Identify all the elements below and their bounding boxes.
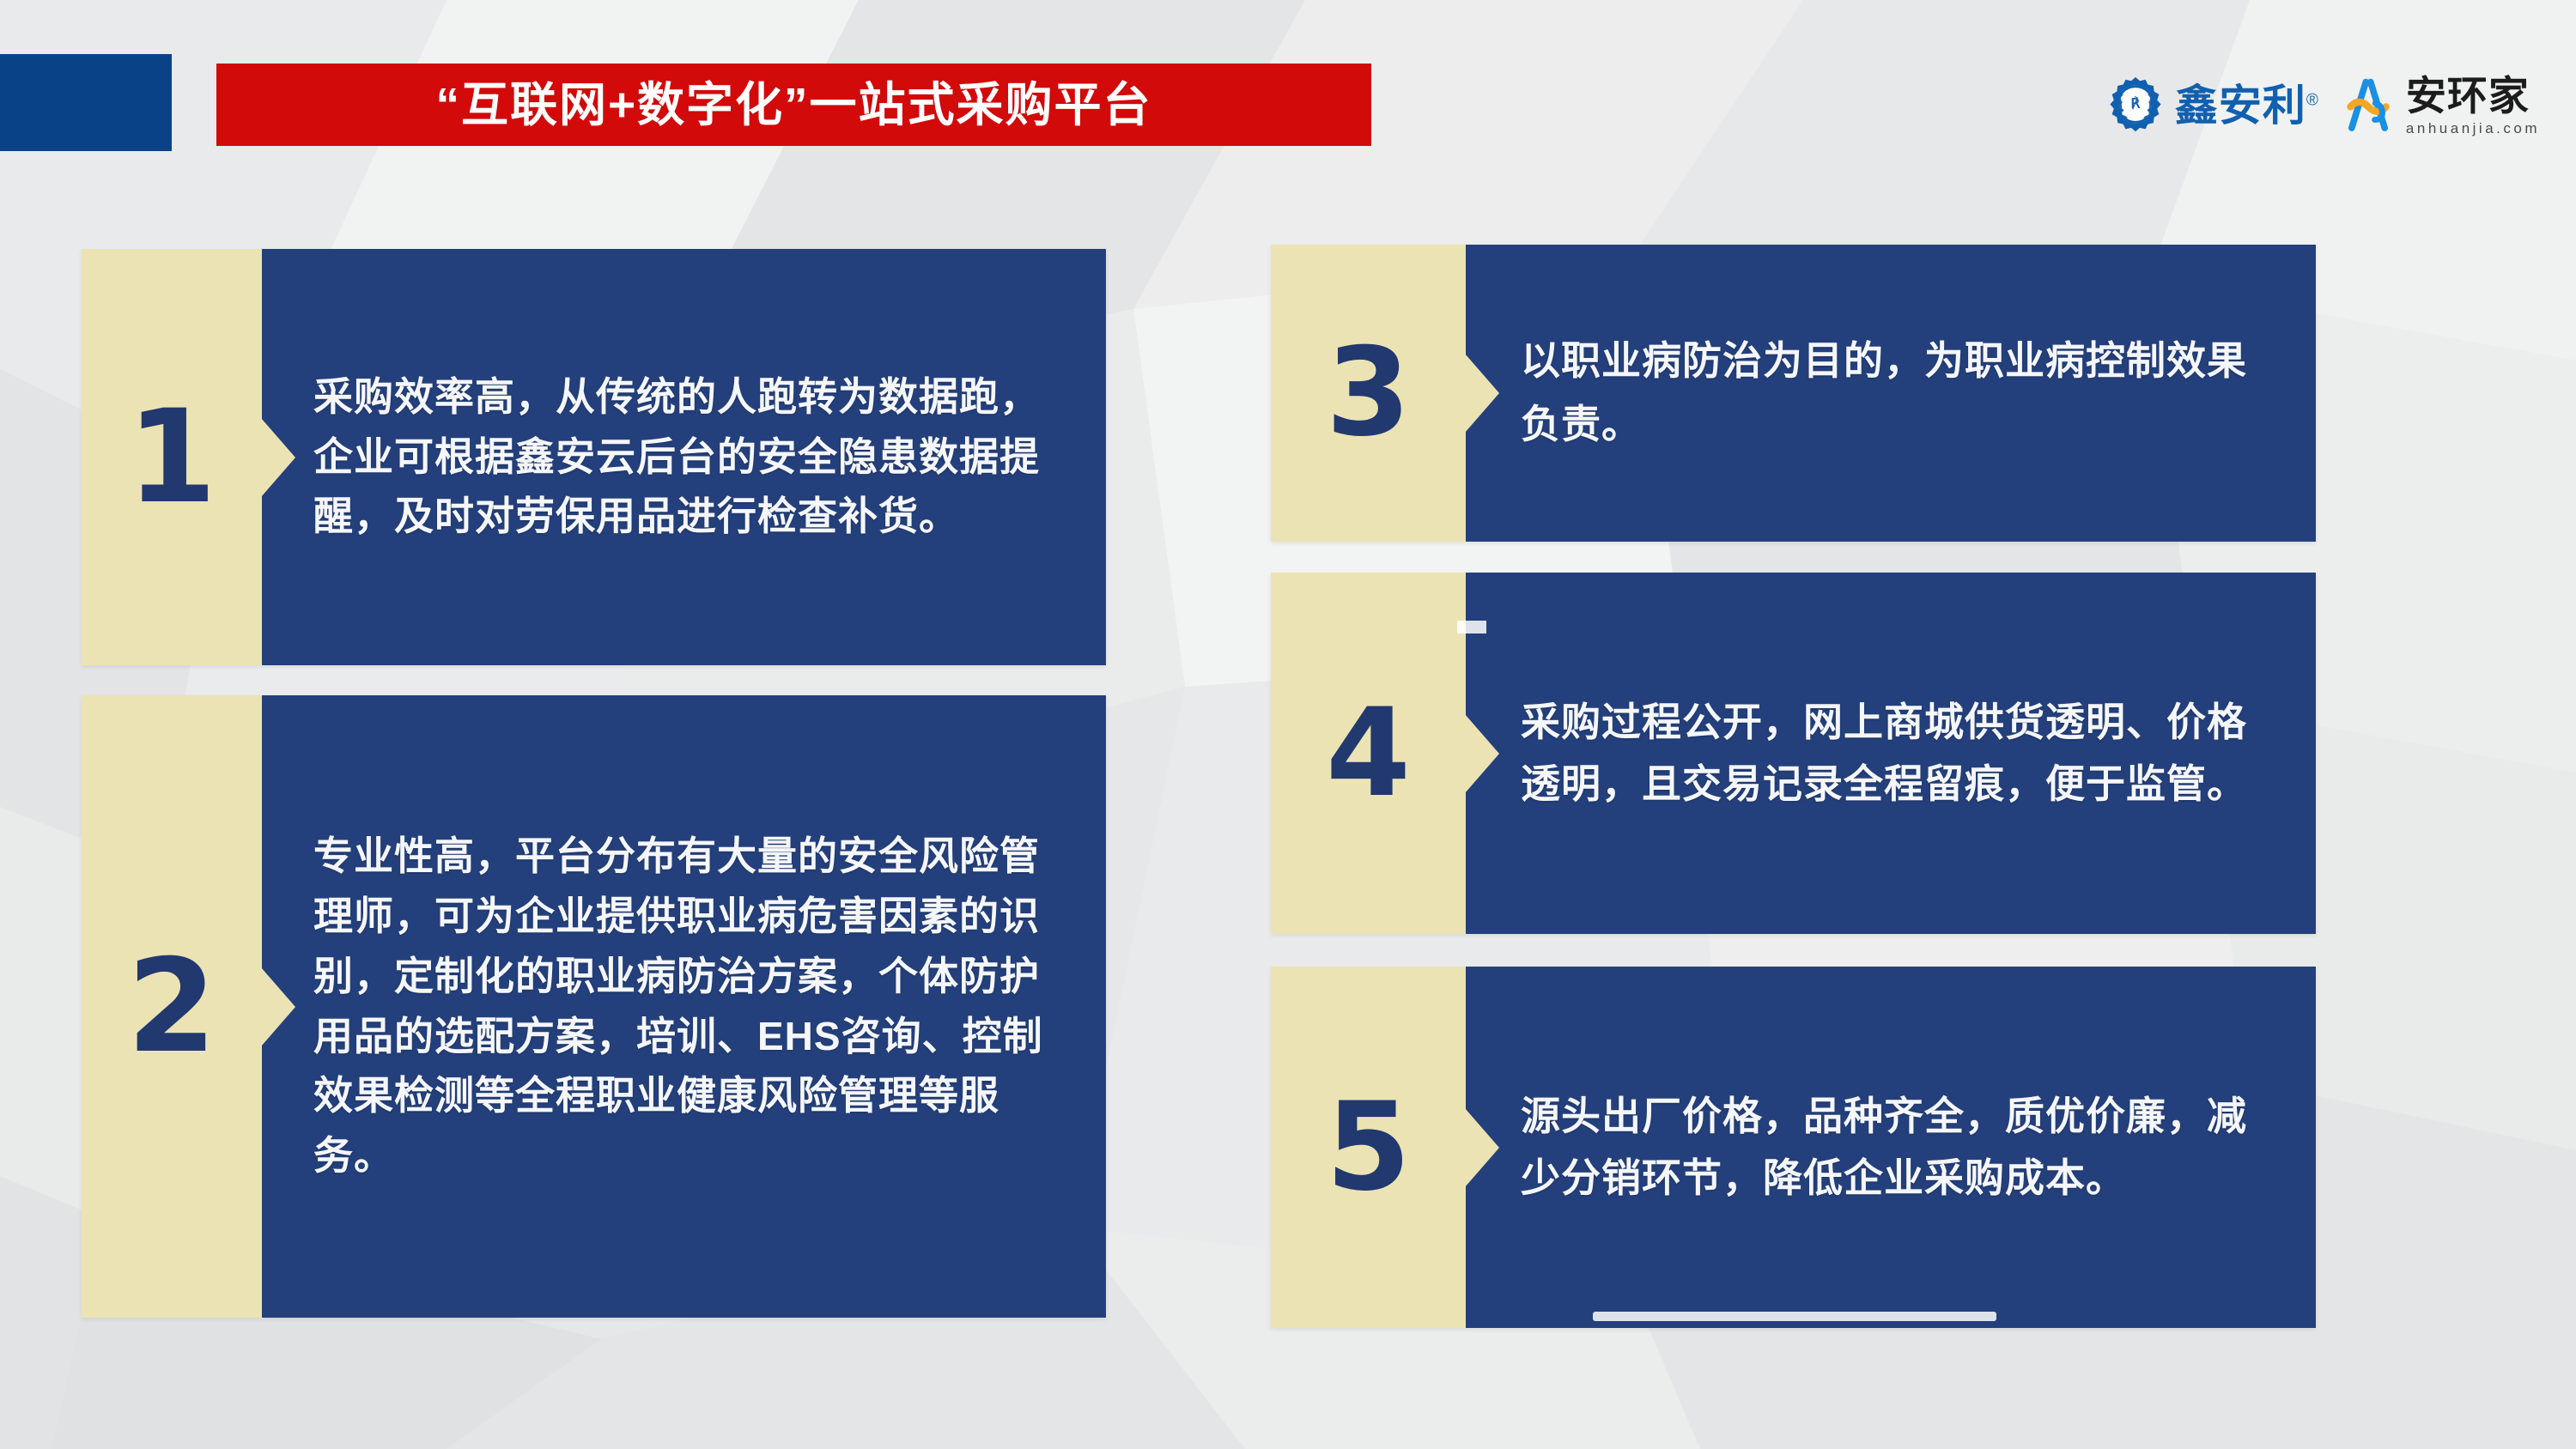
chevron-right-icon: [1465, 354, 1499, 433]
card-1-body: 采购效率高，从传统的人跑转为数据跑，企业可根据鑫安云后台的安全隐患数据提醒，及时…: [262, 249, 1106, 665]
chevron-right-icon: [1465, 714, 1499, 793]
logo-anhuanjia: 安环家 anhuanjia.com: [2338, 76, 2540, 136]
chevron-right-icon: [1465, 1108, 1499, 1187]
feature-card-5: 5 源头出厂价格，品种齐全，质优价廉，减少分销环节，降低企业采购成本。: [1271, 967, 2316, 1328]
card-4-text: 采购过程公开，网上商城供货透明、价格透明，且交易记录全程留痕，便于监管。: [1466, 692, 2316, 815]
slide-canvas: “互联网+数字化”一站式采购平台 ℟: [0, 0, 2576, 1449]
feature-card-2: 2 专业性高，平台分布有大量的安全风险管理师，可为企业提供职业病危害因素的识别，…: [82, 695, 1106, 1318]
card-2-number: 2: [127, 943, 216, 1071]
card-1-number: 1: [127, 393, 216, 522]
card-3-text: 以职业病防治为目的，为职业病控制效果负责。: [1466, 330, 2316, 456]
card-5-text: 源头出厂价格，品种齐全，质优价廉，减少分销环节，降低企业采购成本。: [1466, 1086, 2316, 1209]
logo-xinanli-text: 鑫安利: [2175, 82, 2306, 130]
gear-wreath-xal-emblem: ℟: [2105, 75, 2166, 136]
card-2-number-panel: 2: [82, 695, 262, 1318]
logo-anhuanjia-text: 安环家 anhuanjia.com: [2406, 76, 2540, 136]
page-title: “互联网+数字化”一站式采购平台: [435, 82, 1151, 129]
header-blue-marker: [0, 54, 172, 151]
feature-card-1: 1 采购效率高，从传统的人跑转为数据跑，企业可根据鑫安云后台的安全隐患数据提醒，…: [82, 249, 1106, 665]
card-1-text: 采购效率高，从传统的人跑转为数据跑，企业可根据鑫安云后台的安全隐患数据提醒，及时…: [262, 367, 1106, 548]
card-3-number-panel: 3: [1271, 245, 1466, 542]
logo-anhuanjia-wordmark: 安环家: [2406, 76, 2540, 116]
card-4-number: 4: [1326, 693, 1411, 815]
chevron-right-icon: [261, 967, 295, 1046]
feature-card-3: 3 以职业病防治为目的，为职业病控制效果负责。: [1271, 245, 2316, 542]
logo-row: ℟: [2105, 62, 2540, 149]
registered-trademark-icon: ®: [2306, 91, 2319, 109]
logo-xinanli-wordmark: 鑫安利®: [2175, 84, 2319, 127]
card-5-body: 源头出厂价格，品种齐全，质优价廉，减少分销环节，降低企业采购成本。: [1466, 967, 2316, 1328]
card-2-text: 专业性高，平台分布有大量的安全风险管理师，可为企业提供职业病危害因素的识别，定制…: [262, 827, 1106, 1186]
card-5-number-panel: 5: [1271, 967, 1466, 1328]
card-1-number-panel: 1: [82, 249, 262, 665]
card-4-body: 采购过程公开，网上商城供货透明、价格透明，且交易记录全程留痕，便于监管。: [1466, 573, 2316, 934]
card-3-body: 以职业病防治为目的，为职业病控制效果负责。: [1466, 245, 2316, 542]
card-5-number: 5: [1326, 1087, 1411, 1209]
card-3-number: 3: [1326, 332, 1411, 454]
logo-xinanli: ℟: [2105, 75, 2319, 136]
chevron-right-icon: [261, 418, 295, 497]
title-banner: “互联网+数字化”一站式采购平台: [216, 64, 1371, 146]
feature-card-4: 4 采购过程公开，网上商城供货透明、价格透明，且交易记录全程留痕，便于监管。: [1271, 573, 2316, 934]
svg-text:℟: ℟: [2130, 95, 2140, 112]
card-2-body: 专业性高，平台分布有大量的安全风险管理师，可为企业提供职业病危害因素的识别，定制…: [262, 695, 1106, 1318]
logo-anhuanjia-url: anhuanjia.com: [2406, 121, 2540, 136]
anhuanjia-a-mark-icon: [2338, 77, 2398, 134]
card-4-number-panel: 4: [1271, 573, 1466, 934]
